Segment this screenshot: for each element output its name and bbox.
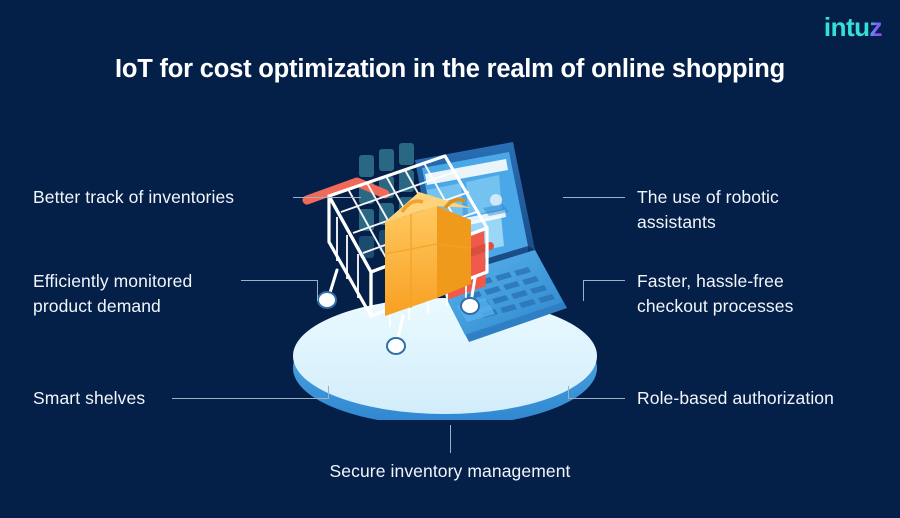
connector-better-track-of-inventories [293, 197, 361, 198]
infographic-canvas: intuz IoT for cost optimization in the r… [0, 0, 900, 518]
label-faster-hassle-free-checkout-processes: Faster, hassle-free checkout processes [637, 269, 793, 320]
connector-efficiently-monitored-vertical [317, 280, 318, 301]
connector-efficiently-monitored-horizontal [241, 280, 317, 281]
label-the-use-of-robotic-assistants: The use of robotic assistants [637, 185, 779, 236]
connector-the-use-of-robotic-assistants [563, 197, 625, 198]
logo-text-main: intu [824, 14, 870, 40]
label-better-track-of-inventories: Better track of inventories [33, 185, 234, 210]
label-smart-shelves: Smart shelves [33, 386, 145, 411]
logo-text-accent: z [870, 14, 883, 40]
connector-role-based-horizontal [568, 398, 625, 399]
isometric-laptop-shopping-cart-illustration [285, 120, 615, 420]
circular-platform [293, 298, 597, 420]
connector-role-based-vertical [568, 386, 569, 399]
page-title: IoT for cost optimization in the realm o… [0, 54, 900, 86]
label-efficiently-monitored-product-demand: Efficiently monitored product demand [33, 269, 192, 320]
intuz-logo[interactable]: intuz [824, 14, 882, 40]
label-secure-inventory-management: Secure inventory management [0, 459, 900, 484]
connector-faster-checkout-vertical [583, 280, 584, 301]
connector-smart-shelves-vertical [328, 386, 329, 399]
label-role-based-authorization: Role-based authorization [637, 386, 834, 411]
connector-secure-inventory-management [450, 425, 451, 453]
connector-faster-checkout-horizontal [583, 280, 625, 281]
connector-smart-shelves-horizontal [172, 398, 328, 399]
